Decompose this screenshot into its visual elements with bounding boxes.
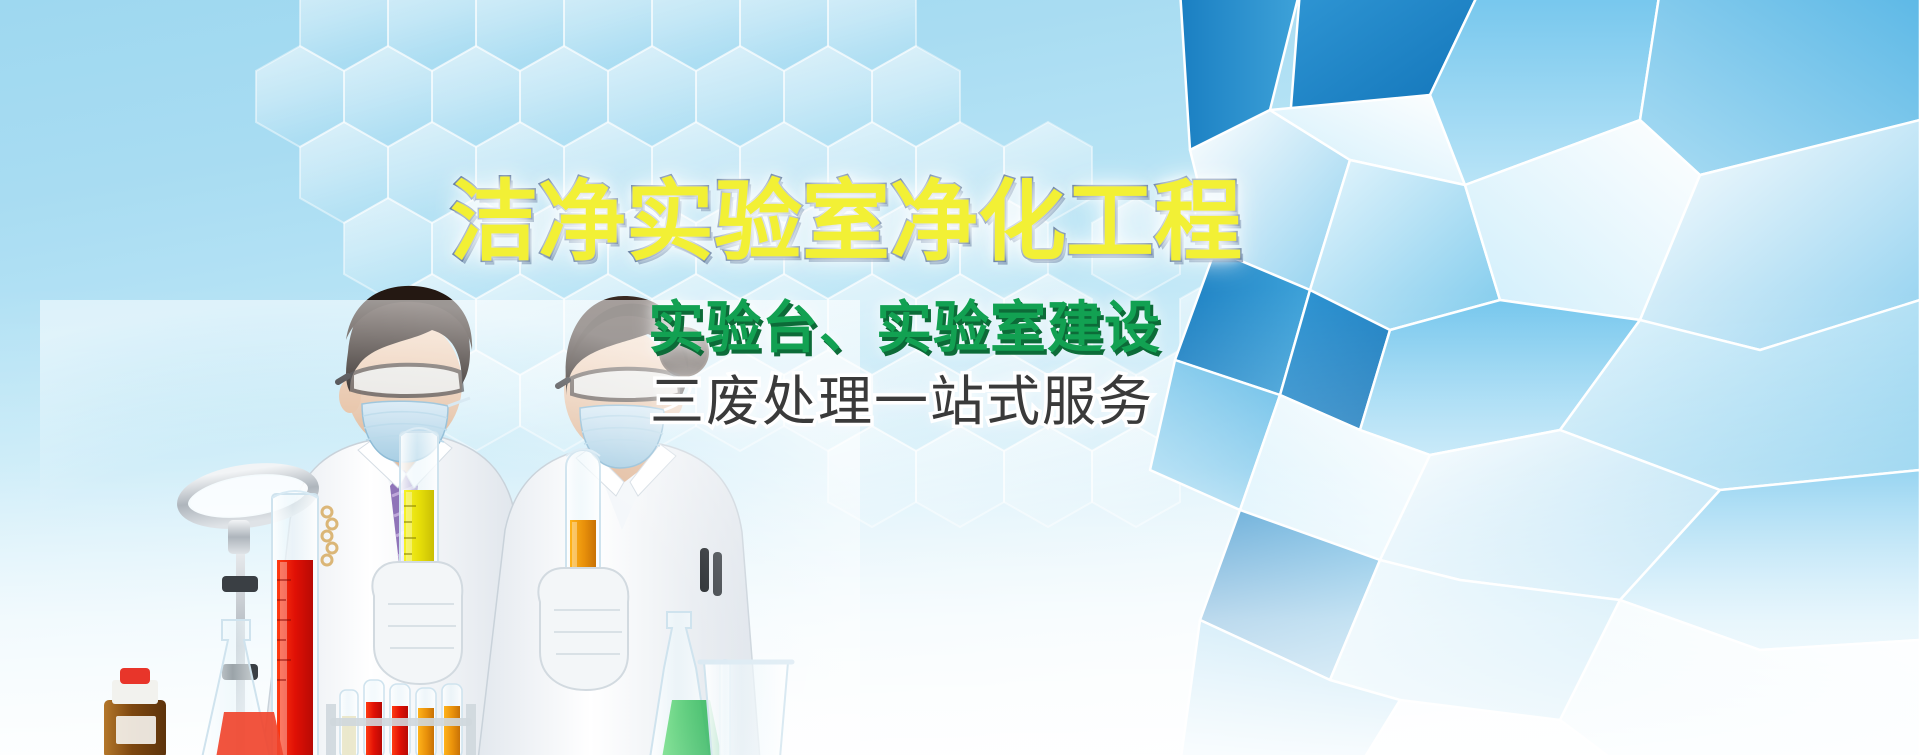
lab-scene-layer (0, 0, 1920, 755)
promo-banner: 洁净实验室净化工程 实验台、实验室建设 三废处理一站式服务 (0, 0, 1920, 755)
